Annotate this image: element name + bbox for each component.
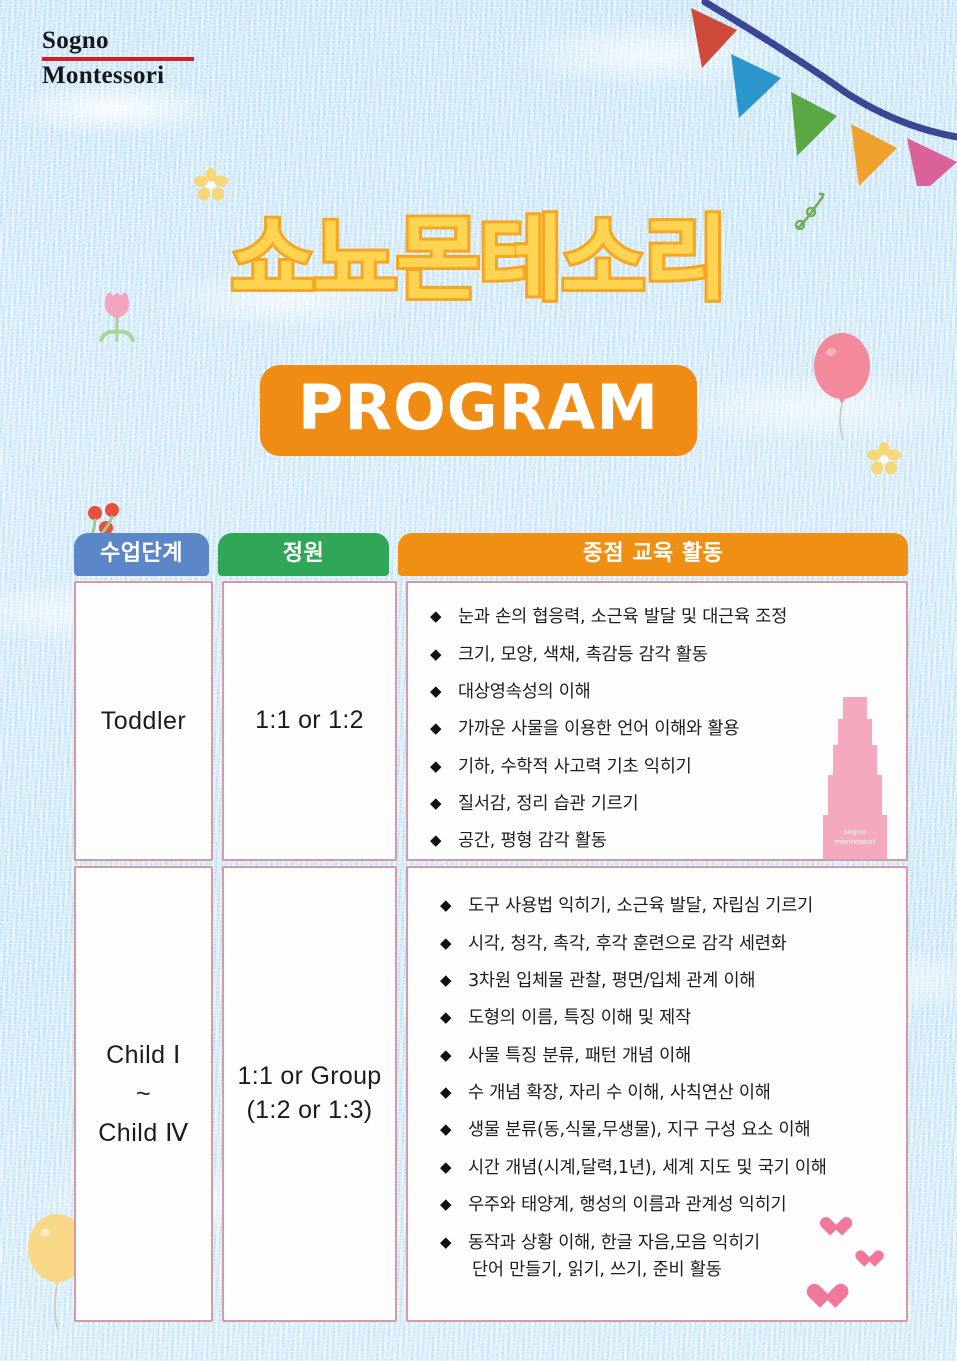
tower-label-line2: montessori [835,837,876,848]
tower-block-1 [843,697,867,719]
program-badge-wrap: PROGRAM [0,365,957,456]
tower-label: sogno montessori [823,815,887,859]
diamond-bullet-icon: ◆ [440,1045,451,1067]
pink-tower-illustration: sogno montessori [820,697,890,859]
list-item: ◆생물 분류(동,식물,무생물), 지구 구성 요소 이해 [440,1118,892,1143]
heart-icon [855,1251,875,1269]
stage-label-child: Child Ⅰ ~ Child Ⅳ [98,1036,189,1152]
capacity-label-child-line1: 1:1 or Group [238,1060,382,1094]
list-item: ◆크기, 모양, 색채, 촉감등 감각 활동 [430,643,892,668]
cell-activities-child: ◆도구 사용법 익히기, 소근육 발달, 자립심 기르기 ◆시각, 청각, 촉각… [406,866,908,1322]
activity-text: 도형의 이름, 특징 이해 및 제작 [468,1008,691,1028]
diamond-bullet-icon: ◆ [440,933,451,955]
activity-text: 크기, 모양, 색채, 촉감등 감각 활동 [458,645,708,665]
activity-text: 대상영속성의 이해 [458,682,591,702]
page-title: 쇼뇨몬테소리 [0,212,957,309]
heart-icon [820,1218,842,1238]
stage-label-child-line3: Child Ⅳ [98,1114,189,1153]
stage-label-toddler: Toddler [101,702,187,741]
activity-text: 공간, 평형 감각 활동 [458,831,607,851]
stage-label-child-line2: ~ [98,1075,189,1114]
stage-label-child-line1: Child Ⅰ [98,1036,189,1075]
diamond-bullet-icon: ◆ [440,1232,451,1254]
table-row-toddler: Toddler 1:1 or 1:2 ◆눈과 손의 협응력, 소근육 발달 및 … [74,581,908,861]
capacity-label-child: 1:1 or Group (1:2 or 1:3) [238,1060,382,1128]
activity-text: 질서감, 정리 습관 기르기 [458,794,638,814]
activity-text: 도구 사용법 익히기, 소근육 발달, 자립심 기르기 [468,896,813,916]
list-item: ◆눈과 손의 협응력, 소근육 발달 및 대근육 조정 [430,605,892,630]
list-item: ◆도형의 이름, 특징 이해 및 제작 [440,1006,892,1031]
table-row-child: Child Ⅰ ~ Child Ⅳ 1:1 or Group (1:2 or 1… [74,866,908,1322]
capacity-label-toddler: 1:1 or 1:2 [255,704,364,738]
list-item: ◆수 개념 확장, 자리 수 이해, 사칙연산 이해 [440,1081,892,1106]
activity-text: 3차원 입체물 관찰, 평면/입체 관계 이해 [468,971,755,991]
tower-block-2 [838,719,872,745]
list-item: ◆사물 특징 분류, 패턴 개념 이해 [440,1044,892,1069]
cell-stage-toddler: Toddler [74,581,213,861]
list-item: ◆시각, 청각, 촉각, 후각 훈련으로 감각 세련화 [440,932,892,957]
diamond-bullet-icon: ◆ [430,830,441,852]
diamond-bullet-icon: ◆ [430,606,441,628]
diamond-bullet-icon: ◆ [430,793,441,815]
diamond-bullet-icon: ◆ [440,1007,451,1029]
tower-label-line1: sogno [844,827,866,838]
diamond-bullet-icon: ◆ [440,1157,451,1179]
cell-capacity-toddler: 1:1 or 1:2 [222,581,397,861]
diamond-bullet-icon: ◆ [430,756,441,778]
diamond-bullet-icon: ◆ [430,681,441,703]
diamond-bullet-icon: ◆ [440,1082,451,1104]
logo-line-montessori: Montessori [42,63,242,90]
logo-red-rule [42,57,194,61]
table-header-row: 수업단계 정원 중점 교육 활동 [74,533,908,576]
tower-block-5: sogno montessori [823,815,887,859]
diamond-bullet-icon: ◆ [440,1119,451,1141]
tower-block-3 [833,745,877,775]
activity-text: 시각, 청각, 촉각, 후각 훈련으로 감각 세련화 [468,934,787,954]
program-table: 수업단계 정원 중점 교육 활동 Toddler 1:1 or 1:2 ◆눈과 … [74,533,908,1322]
table-header-stage: 수업단계 [74,533,209,576]
cell-stage-child: Child Ⅰ ~ Child Ⅳ [74,866,213,1322]
cell-capacity-child: 1:1 or Group (1:2 or 1:3) [222,866,397,1322]
activity-text: 눈과 손의 협응력, 소근육 발달 및 대근육 조정 [458,607,787,627]
activity-text: 시간 개념(시계,달력,1년), 세계 지도 및 국기 이해 [468,1158,827,1178]
list-item: ◆3차원 입체물 관찰, 평면/입체 관계 이해 [440,969,892,994]
list-item: ◆시간 개념(시계,달력,1년), 세계 지도 및 국기 이해 [440,1156,892,1181]
diamond-bullet-icon: ◆ [430,644,441,666]
activity-text: 생물 분류(동,식물,무생물), 지구 구성 요소 이해 [468,1120,810,1140]
capacity-label-child-line2: (1:2 or 1:3) [238,1094,382,1128]
cell-activities-toddler: ◆눈과 손의 협응력, 소근육 발달 및 대근육 조정 ◆크기, 모양, 색채,… [406,581,908,861]
list-item: ◆동작과 상황 이해, 한글 자음,모음 익히기단어 만들기, 읽기, 쓰기, … [440,1231,892,1284]
program-badge: PROGRAM [260,365,697,456]
activity-text: 가까운 사물을 이용한 언어 이해와 활용 [458,719,739,739]
activity-text: 기하, 수학적 사고력 기초 익히기 [458,757,692,777]
tower-block-4 [828,775,882,815]
list-item: ◆도구 사용법 익히기, 소근육 발달, 자립심 기르기 [440,894,892,919]
table-header-capacity: 정원 [218,533,389,576]
diamond-bullet-icon: ◆ [440,970,451,992]
logo-line-sogno: Sogno [42,28,242,55]
diamond-bullet-icon: ◆ [440,1194,451,1216]
activity-text: 동작과 상황 이해, 한글 자음,모음 익히기 [468,1233,760,1253]
list-item: ◆우주와 태양계, 행성의 이름과 관계성 익히기 [440,1193,892,1218]
activity-text: 우주와 태양계, 행성의 이름과 관계성 익히기 [468,1195,786,1215]
diamond-bullet-icon: ◆ [430,718,441,740]
activity-text: 수 개념 확장, 자리 수 이해, 사칙연산 이해 [468,1083,771,1103]
activity-text-line2: 단어 만들기, 읽기, 쓰기, 준비 활동 [468,1258,892,1283]
brand-logo: Sogno Montessori [42,28,242,89]
heart-icon [807,1285,836,1311]
diamond-bullet-icon: ◆ [440,895,451,917]
activity-text: 사물 특징 분류, 패턴 개념 이해 [468,1046,691,1066]
table-header-activities: 중점 교육 활동 [398,533,908,576]
